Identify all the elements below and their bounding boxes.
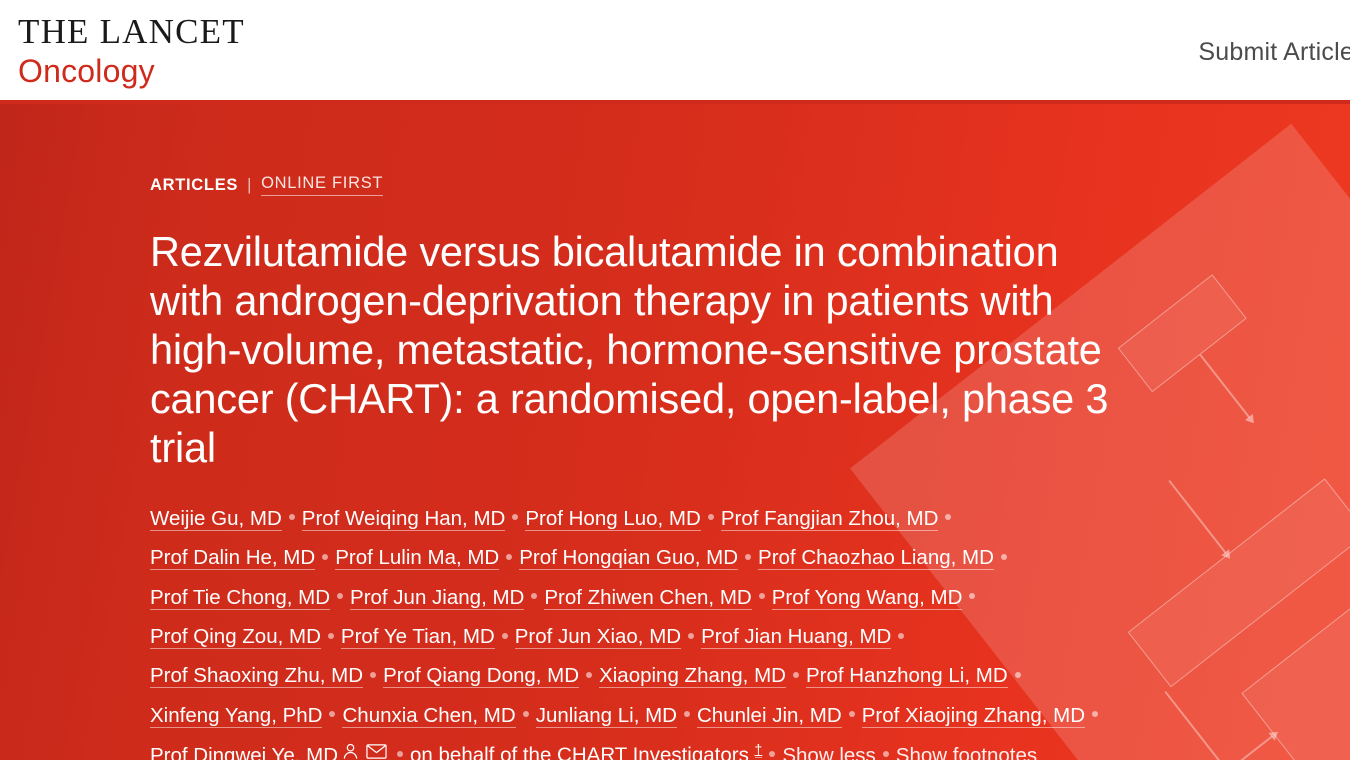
article-type-breadcrumb: ARTICLES | ONLINE FIRST [150, 174, 1120, 196]
author-separator-dot [1015, 672, 1021, 678]
author-separator-dot [793, 672, 799, 678]
watermark-box-discontinued [1241, 536, 1350, 760]
author-link[interactable]: Junliang Li, MD [536, 704, 677, 728]
header-nav: Submit Article [1198, 38, 1350, 67]
author-link[interactable]: Prof Zhiwen Chen, MD [544, 586, 751, 610]
author-separator-dot [759, 593, 765, 599]
author-separator-dot [898, 633, 904, 639]
author-link[interactable]: Prof Jun Xiao, MD [515, 625, 681, 649]
author-link[interactable]: Prof Yong Wang, MD [772, 586, 963, 610]
author-link[interactable]: Prof Ye Tian, MD [341, 625, 495, 649]
author-separator-dot [512, 514, 518, 520]
author-separator-dot [745, 554, 751, 560]
author-separator-dot [337, 593, 343, 599]
author-link[interactable]: Prof Tie Chong, MD [150, 586, 330, 610]
brand-the-lancet: THE LANCET [18, 14, 245, 51]
author-link[interactable]: Prof Qiang Dong, MD [383, 664, 579, 688]
author-profile-icon[interactable] [341, 735, 360, 760]
author-separator-dot [506, 554, 512, 560]
author-separator-dot [289, 514, 295, 520]
author-separator-dot [769, 751, 775, 757]
author-separator-dot [531, 593, 537, 599]
author-link[interactable]: Chunxia Chen, MD [342, 704, 515, 728]
watermark-arrow-5 [1226, 735, 1273, 760]
author-separator-dot [329, 711, 335, 717]
author-separator-dot [708, 514, 714, 520]
author-link[interactable]: Xinfeng Yang, PhD [150, 704, 322, 728]
author-link[interactable]: Prof Qing Zou, MD [150, 625, 321, 649]
author-link[interactable]: Prof Dalin He, MD [150, 546, 315, 570]
author-link[interactable]: Chunlei Jin, MD [697, 704, 842, 728]
show-less-link[interactable]: Show less [782, 744, 875, 760]
author-separator-dot [328, 633, 334, 639]
author-link[interactable]: Prof Xiaojing Zhang, MD [862, 704, 1085, 728]
author-separator-dot [969, 593, 975, 599]
online-first-link[interactable]: ONLINE FIRST [261, 174, 383, 196]
author-separator-dot [370, 672, 376, 678]
banner-content: ARTICLES | ONLINE FIRST Rezvilutamide ve… [0, 104, 1120, 760]
author-separator-dot [502, 633, 508, 639]
breadcrumb-separator: | [247, 176, 252, 195]
author-link[interactable]: Prof Shaoxing Zhu, MD [150, 664, 363, 688]
author-link[interactable]: Prof Jian Huang, MD [701, 625, 891, 649]
show-footnotes-link[interactable]: Show footnotes [896, 744, 1037, 760]
watermark-arrow-1 [1199, 354, 1249, 418]
journal-logo[interactable]: THE LANCET Oncology [18, 14, 245, 90]
author-separator-dot [1092, 711, 1098, 717]
author-separator-dot [849, 711, 855, 717]
author-separator-dot [322, 554, 328, 560]
author-separator-dot [586, 672, 592, 678]
author-link[interactable]: Prof Weiqing Han, MD [302, 507, 506, 531]
author-link[interactable]: Prof Chaozhao Liang, MD [758, 546, 994, 570]
author-separator-dot [397, 751, 403, 757]
author-link[interactable]: Xiaoping Zhang, MD [599, 664, 786, 688]
author-separator-dot [883, 751, 889, 757]
footnote-marker[interactable]: † [755, 741, 763, 758]
group-attribution: on behalf of the CHART Investigators [410, 744, 755, 760]
watermark-arrow-2 [1267, 404, 1268, 405]
author-link[interactable]: Prof Lulin Ma, MD [335, 546, 499, 570]
author-separator-dot [684, 711, 690, 717]
article-title: Rezvilutamide versus bicalutamide in com… [150, 228, 1120, 473]
author-link[interactable]: Prof Dingwei Ye, MD [150, 744, 338, 760]
author-separator-dot [688, 633, 694, 639]
author-link[interactable]: Prof Hongqian Guo, MD [519, 546, 738, 570]
brand-oncology: Oncology [18, 53, 245, 90]
article-banner: ARTICLES | ONLINE FIRST Rezvilutamide ve… [0, 104, 1350, 760]
author-separator-dot [1001, 554, 1007, 560]
watermark-arrow-3 [1168, 480, 1226, 553]
author-link[interactable]: Prof Hanzhong Li, MD [806, 664, 1008, 688]
submit-article-link[interactable]: Submit Article [1198, 38, 1350, 66]
watermark-arrow-4 [1165, 691, 1246, 760]
author-separator-dot [945, 514, 951, 520]
site-header: THE LANCET Oncology Submit Article [0, 0, 1350, 104]
author-link[interactable]: Prof Jun Jiang, MD [350, 586, 524, 610]
email-icon[interactable] [366, 735, 387, 760]
watermark-box-ongoing [1128, 478, 1350, 687]
author-list: Weijie Gu, MDProf Weiqing Han, MDProf Ho… [150, 499, 1120, 760]
watermark-box-top [1118, 274, 1247, 392]
author-link[interactable]: Prof Hong Luo, MD [525, 507, 700, 531]
author-link[interactable]: Prof Fangjian Zhou, MD [721, 507, 939, 531]
article-type-label: ARTICLES [150, 176, 238, 195]
author-separator-dot [523, 711, 529, 717]
author-link[interactable]: Weijie Gu, MD [150, 507, 282, 531]
